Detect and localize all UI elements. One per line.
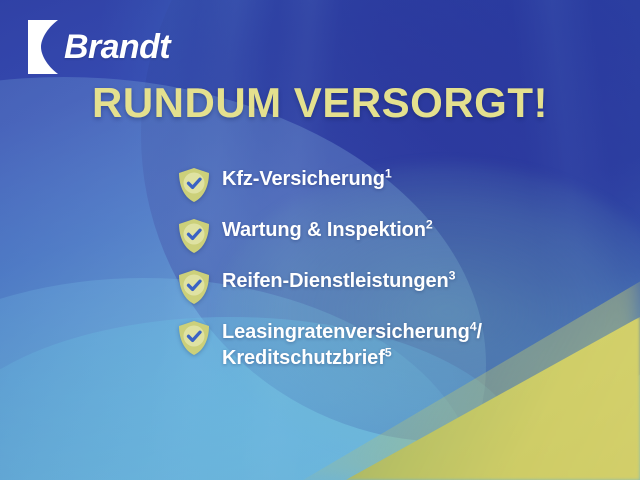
brandt-bracket-mark-icon [28, 20, 62, 74]
benefit-label: Reifen-Dienstleistungen [222, 270, 449, 292]
benefit-footnote: 2 [426, 217, 433, 231]
shield-check-icon [178, 320, 210, 356]
brand-wordmark: Brandt [64, 30, 170, 64]
benefit-footnote: 4 [470, 319, 477, 333]
benefit-footnote: 3 [449, 268, 456, 282]
shield-check-icon [178, 218, 210, 254]
list-item-label: Kfz-Versicherung1 [222, 166, 392, 192]
benefit-footnote: 1 [385, 166, 392, 180]
benefit-label: Wartung & Inspektion [222, 219, 426, 241]
benefit-label-line2: Kreditschutzbrief [222, 347, 385, 369]
slide-content: Brandt RUNDUM VERSORGT! Kfz-Versicherung… [0, 0, 640, 480]
shield-check-icon [178, 167, 210, 203]
list-item-label: Wartung & Inspektion2 [222, 217, 433, 243]
list-item-label: Leasingratenversicherung4/ Kreditschutzb… [222, 319, 482, 372]
benefit-suffix: / [477, 321, 482, 343]
list-item: Kfz-Versicherung1 [178, 166, 598, 203]
benefits-list: Kfz-Versicherung1 Wartung & Inspektion2 [178, 166, 598, 372]
slide-canvas: Brandt RUNDUM VERSORGT! Kfz-Versicherung… [0, 0, 640, 480]
list-item: Wartung & Inspektion2 [178, 217, 598, 254]
brand-logo: Brandt [28, 20, 170, 74]
benefit-footnote-2: 5 [385, 346, 392, 360]
shield-check-icon [178, 269, 210, 305]
page-title: RUNDUM VERSORGT! [0, 82, 640, 124]
list-item-label: Reifen-Dienstleistungen3 [222, 268, 455, 294]
benefit-label: Kfz-Versicherung [222, 168, 385, 190]
list-item: Reifen-Dienstleistungen3 [178, 268, 598, 305]
benefit-label: Leasingratenversicherung [222, 321, 470, 343]
list-item: Leasingratenversicherung4/ Kreditschutzb… [178, 319, 598, 372]
